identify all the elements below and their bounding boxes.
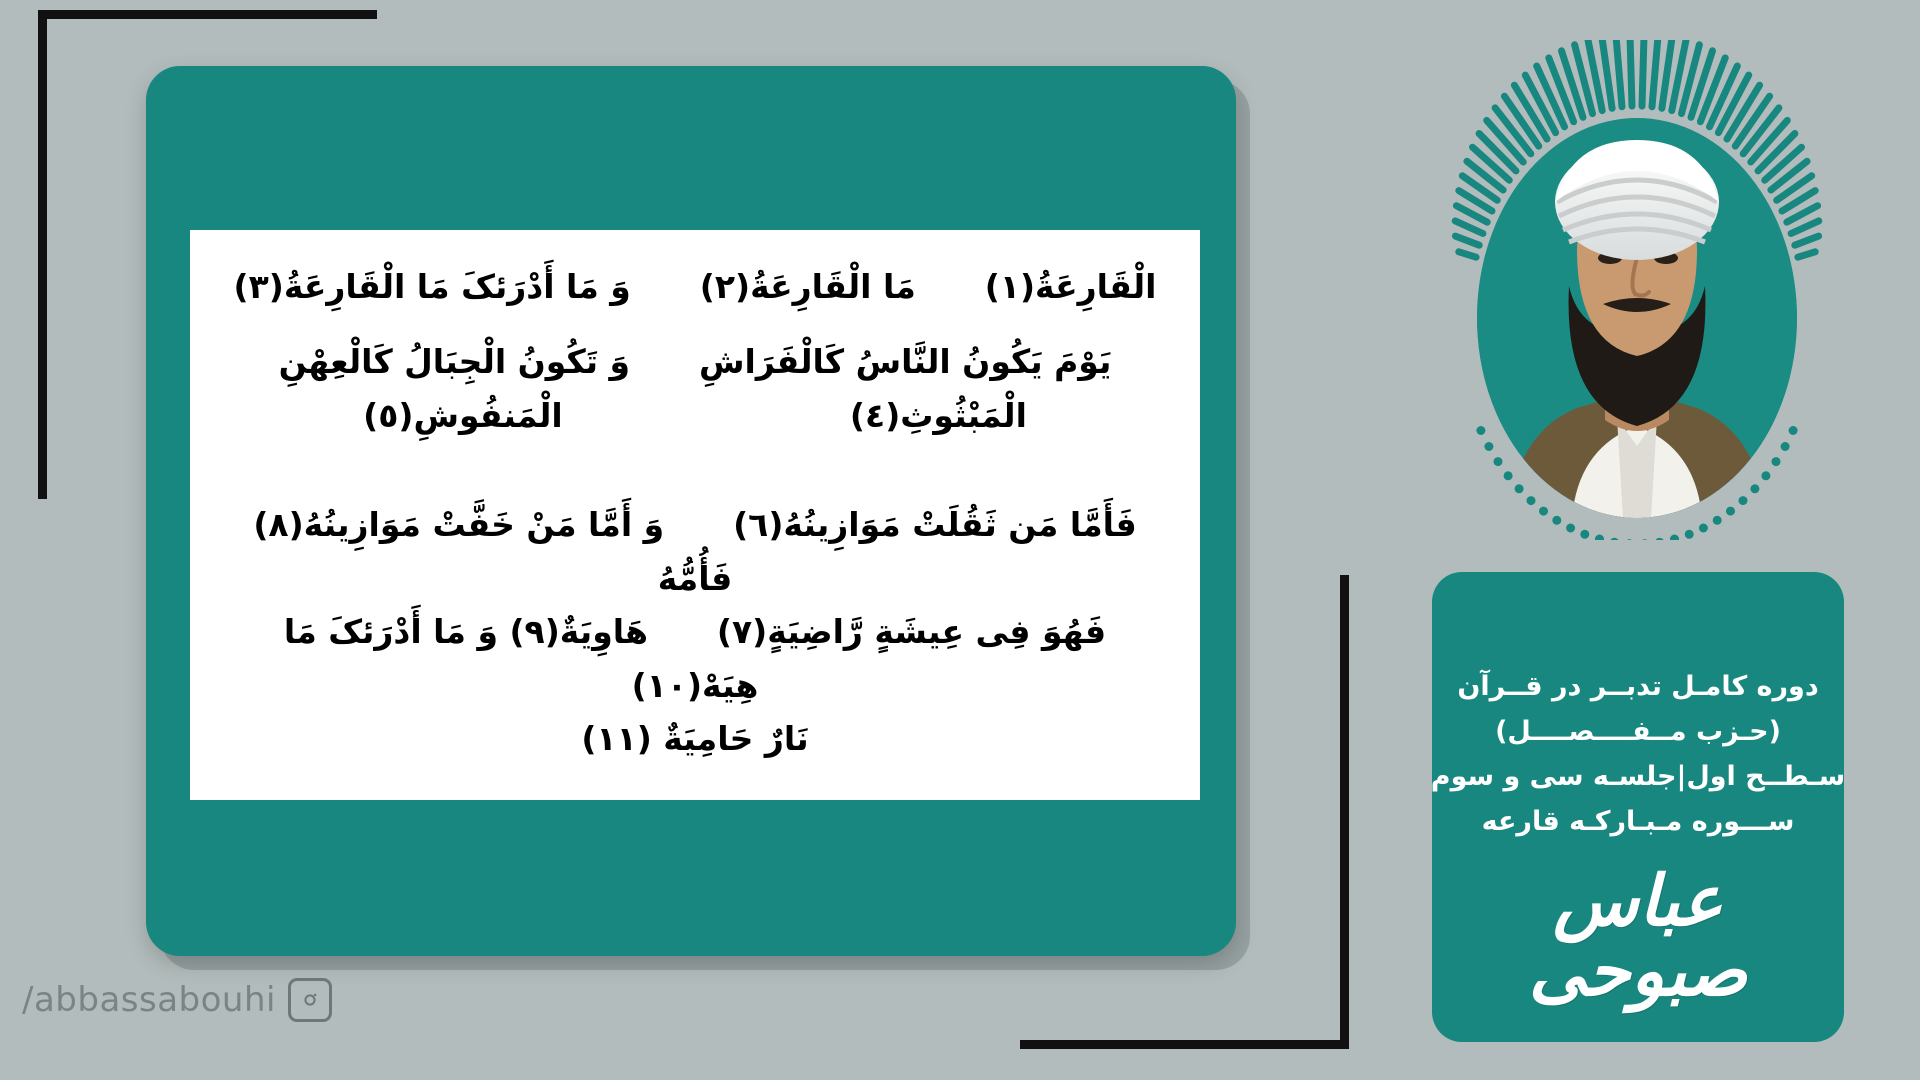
verse-line: نَارٌ حَامِيَةٌ (١١) <box>220 712 1170 765</box>
social-handle[interactable]: /abbassabouhi <box>22 978 332 1022</box>
verse-line: يَوْمَ يَكُونُ النَّاسُ كَالْفَرَاشِ وَ … <box>220 335 1170 388</box>
verse-group-1: الْقَارِعَةُ(١) مَا الْقَارِعَةُ(٢) وَ م… <box>220 260 1170 313</box>
course-session-line: سـطــح اول|جلسـه سی و سوم <box>1431 761 1845 792</box>
presenter-signature: عباس صبوحی <box>1450 866 1826 1006</box>
instagram-icon <box>288 978 332 1022</box>
course-part-line: (حـزب مــفــــصــــل) <box>1495 716 1781 747</box>
avatar <box>1477 118 1797 518</box>
course-title-line: دوره کامـل تدبــر در قــرآن <box>1457 671 1818 702</box>
verse-sheet: الْقَارِعَةُ(١) مَا الْقَارِعَةُ(٢) وَ م… <box>190 230 1200 800</box>
portrait-block <box>1437 40 1837 540</box>
verse-line: الْقَارِعَةُ(١) مَا الْقَارِعَةُ(٢) وَ م… <box>220 260 1170 313</box>
verse-group-3: فَأَمَّا مَن ثَقُلَتْ مَوَازِينُهُ(٦) وَ… <box>220 498 1170 765</box>
verse-line: فَهُوَ فِى عِيشَةٍ رَّاضِيَةٍ(٧) هَاوِيَ… <box>220 605 1170 712</box>
course-surah-line: ســـوره مـبـارکـه قارعه <box>1482 806 1795 837</box>
social-handle-text: /abbassabouhi <box>22 980 276 1020</box>
verse-line: الْمَبْثُوثِ(٤) الْمَنفُوشِ(٥) <box>220 389 1170 442</box>
speaker-portrait-illustration <box>1477 118 1797 518</box>
verse-group-2: يَوْمَ يَكُونُ النَّاسُ كَالْفَرَاشِ وَ … <box>220 335 1170 442</box>
slide-canvas: الْقَارِعَةُ(١) مَا الْقَارِعَةُ(٢) وَ م… <box>0 0 1920 1080</box>
verse-line: فَأَمَّا مَن ثَقُلَتْ مَوَازِينُهُ(٦) وَ… <box>220 498 1170 605</box>
course-info-card: دوره کامـل تدبــر در قــرآن (حـزب مــفــ… <box>1432 572 1844 1042</box>
